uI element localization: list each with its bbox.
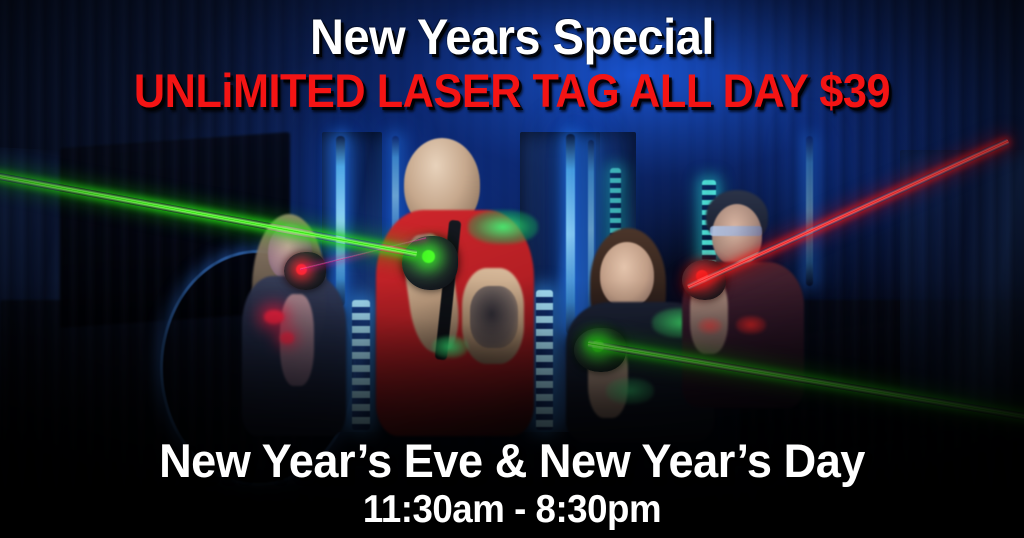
page-title: New Years Special	[31, 8, 994, 66]
headline-block: New Years Special UNLiMITED LASER TAG AL…	[0, 8, 1024, 116]
laser-tag-promo-poster: New Years Special UNLiMITED LASER TAG AL…	[0, 0, 1024, 538]
offer-headline: UNLiMITED LASER TAG ALL DAY $39	[41, 66, 983, 116]
event-dates: New Year’s Eve & New Year’s Day	[20, 434, 1003, 488]
event-hours: 11:30am - 8:30pm	[31, 488, 994, 532]
footer-block: New Year’s Eve & New Year’s Day 11:30am …	[0, 434, 1024, 532]
